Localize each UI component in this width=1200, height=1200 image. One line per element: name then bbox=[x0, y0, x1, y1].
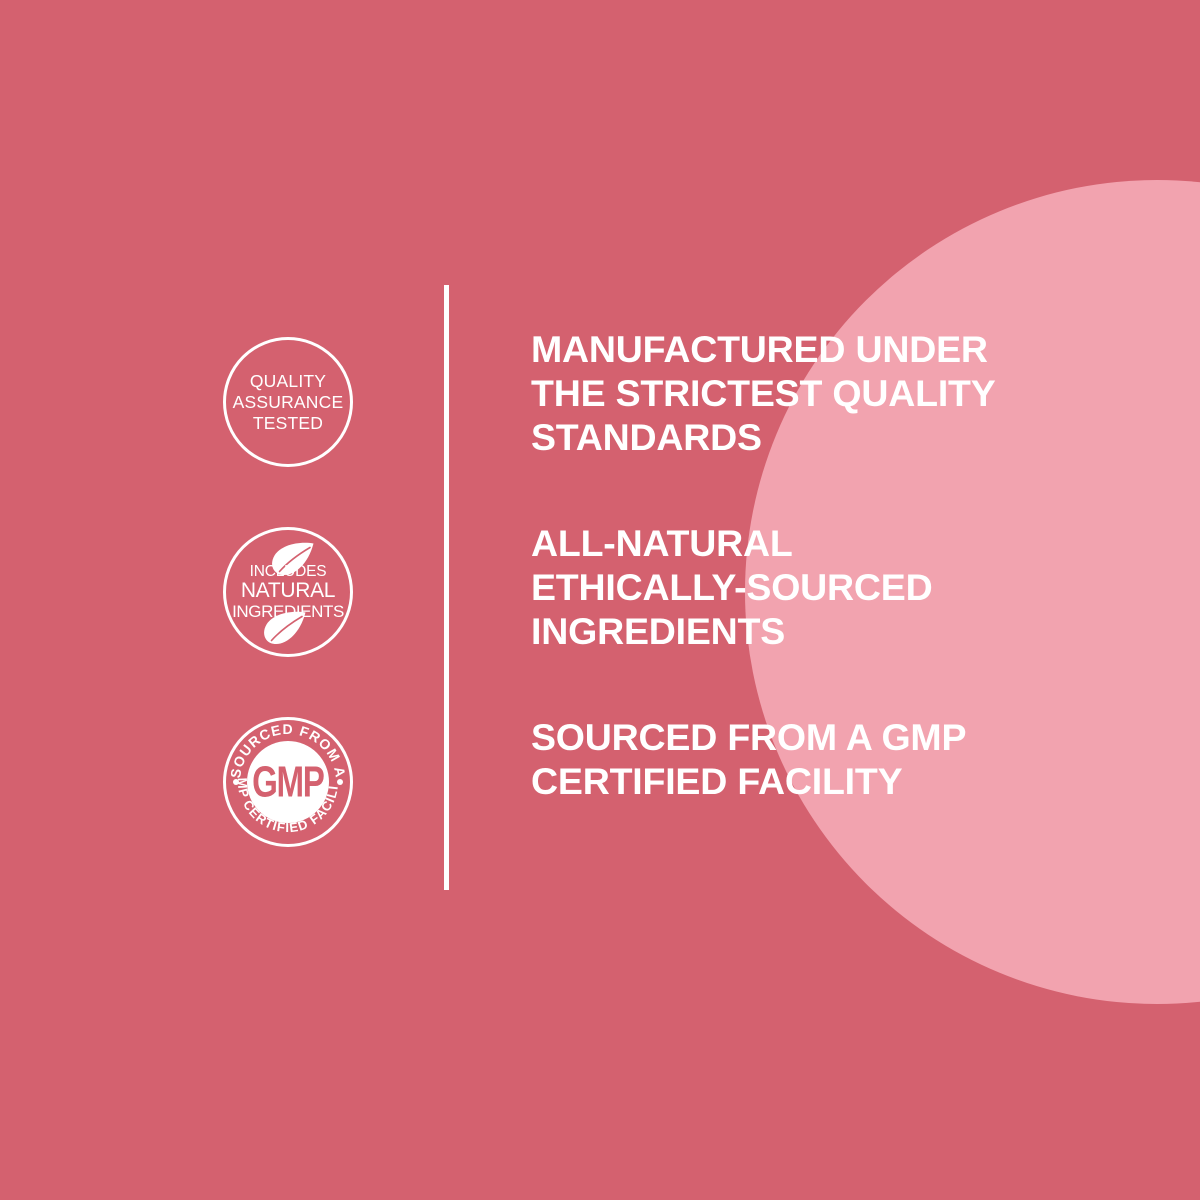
dot-icon bbox=[337, 779, 343, 785]
badge-quality-assurance: QUALITY ASSURANCE TESTED bbox=[223, 337, 353, 467]
leaf-icon bbox=[261, 611, 307, 645]
badge-quality-text: QUALITY ASSURANCE TESTED bbox=[223, 337, 353, 467]
heading-manufactured: MANUFACTURED UNDER THE STRICTEST QUALITY… bbox=[531, 327, 1071, 459]
headings-column: MANUFACTURED UNDER THE STRICTEST QUALITY… bbox=[531, 327, 1071, 803]
heading-all-natural: ALL-NATURAL ETHICALLY-SOURCED INGREDIENT… bbox=[531, 521, 1071, 653]
badge-gmp-seal: SOURCED FROM A GMP CERTIFIED FACILITY GM… bbox=[223, 717, 353, 847]
vertical-divider bbox=[444, 285, 449, 890]
badge-quality-line-1: QUALITY bbox=[250, 371, 326, 392]
badge-column: QUALITY ASSURANCE TESTED INCLUDES NATURA… bbox=[223, 337, 353, 847]
gmp-center-label: GMP bbox=[252, 760, 323, 804]
gmp-center-disc: GMP bbox=[247, 741, 329, 823]
badge-natural-ingredients: INCLUDES NATURAL INGREDIENTS bbox=[223, 527, 353, 657]
promo-banner: QUALITY ASSURANCE TESTED INCLUDES NATURA… bbox=[0, 0, 1200, 1200]
heading-gmp-facility: SOURCED FROM A GMP CERTIFIED FACILITY bbox=[531, 715, 1071, 803]
content-layer: QUALITY ASSURANCE TESTED INCLUDES NATURA… bbox=[0, 0, 1200, 1200]
badge-natural-line-1: INCLUDES bbox=[250, 563, 327, 580]
badge-quality-line-2: ASSURANCE bbox=[233, 392, 344, 413]
badge-natural-line-2: NATURAL bbox=[241, 580, 335, 602]
badge-quality-line-3: TESTED bbox=[253, 413, 323, 434]
dot-icon bbox=[233, 779, 239, 785]
